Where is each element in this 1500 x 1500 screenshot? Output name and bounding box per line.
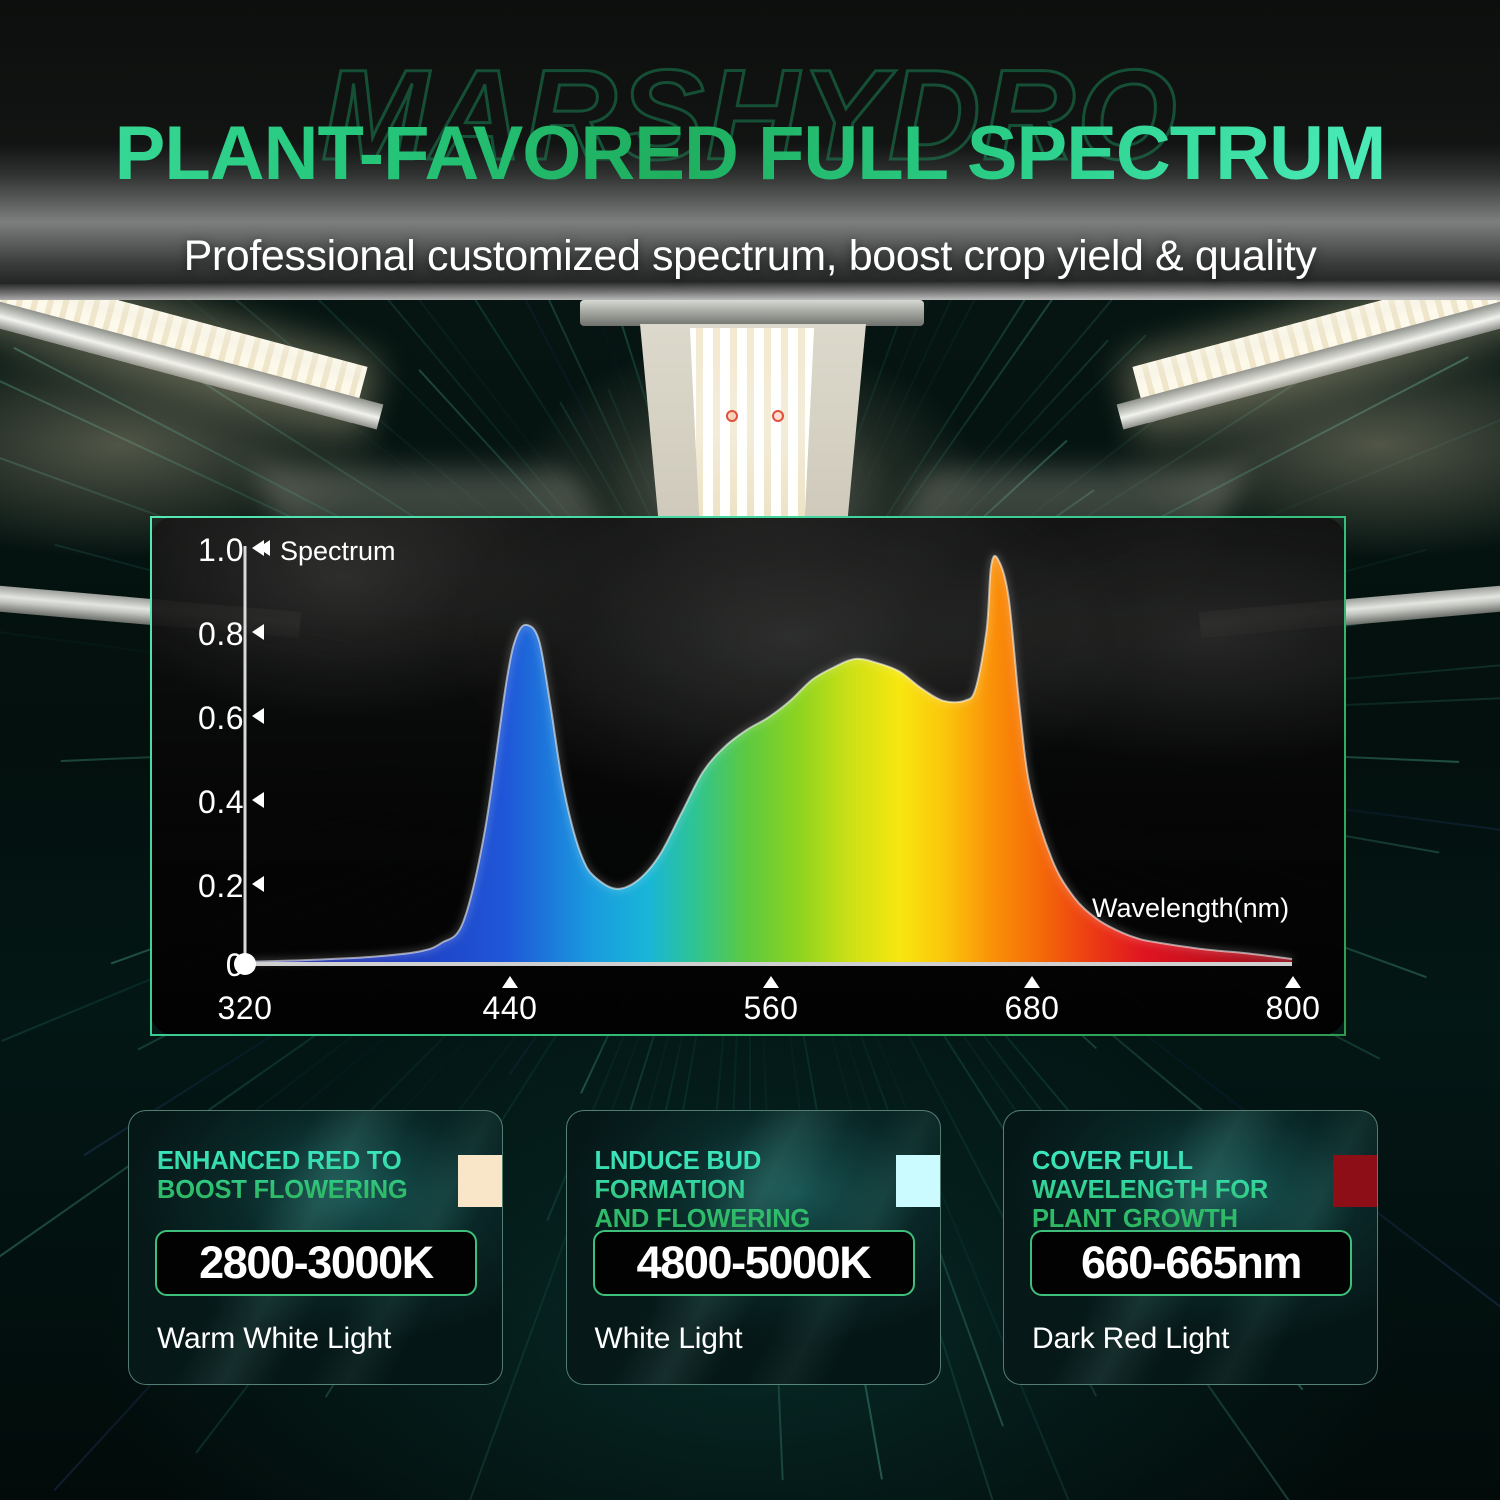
- card-subtitle: Dark Red Light: [1032, 1322, 1229, 1356]
- value-badge: 2800-3000K: [155, 1230, 477, 1296]
- x-tick-marker: [1024, 976, 1040, 988]
- card-title: ENHANCED RED TO BOOST FLOWERING: [157, 1147, 474, 1205]
- x-tick-marker: [1285, 976, 1301, 988]
- y-tick-label: 0.4: [174, 784, 244, 821]
- x-tick-label: 680: [972, 990, 1092, 1027]
- card-title: COVER FULL WAVELENGTH FOR PLANT GROWTH: [1032, 1147, 1349, 1233]
- spectrum-chart-panel: 1.0 0.8 0.6 0.4 0.2 0 Spectrum 320 440 5…: [150, 516, 1346, 1036]
- value-badge: 660-665nm: [1030, 1230, 1352, 1296]
- y-tick-label: 0: [174, 947, 244, 984]
- red-led-indicator-2: [772, 410, 784, 422]
- y-tick-label: 1.0: [174, 532, 244, 569]
- spectrum-label-marker: [258, 540, 270, 556]
- feature-card-white[interactable]: LNDUCE BUD FORMATION AND FLOWERING 4800-…: [566, 1110, 941, 1385]
- red-led-indicator-1: [726, 410, 738, 422]
- x-tick-label: 560: [711, 990, 831, 1027]
- x-tick-label: 440: [450, 990, 570, 1027]
- x-axis-title: Wavelength(nm): [1092, 893, 1289, 924]
- y-tick-marker: [252, 876, 264, 892]
- value-text: 660-665nm: [1081, 1237, 1301, 1289]
- x-tick-marker: [763, 976, 779, 988]
- x-tick-marker: [502, 976, 518, 988]
- page-title: PLANT-FAVORED FULL SPECTRUM: [0, 110, 1500, 197]
- y-tick-marker: [252, 708, 264, 724]
- card-subtitle: White Light: [595, 1322, 743, 1356]
- page-subtitle: Professional customized spectrum, boost …: [0, 232, 1500, 281]
- card-subtitle: Warm White Light: [157, 1322, 391, 1356]
- feature-card-dark-red[interactable]: COVER FULL WAVELENGTH FOR PLANT GROWTH 6…: [1003, 1110, 1378, 1385]
- spectrum-infographic-page: MARSHYDRO PLANT-FAVORED FULL SPECTRUM Pr…: [0, 0, 1500, 1500]
- y-tick-label: 0.2: [174, 868, 244, 905]
- y-tick-label: 0.8: [174, 616, 244, 653]
- y-tick-marker: [252, 792, 264, 808]
- value-text: 2800-3000K: [199, 1237, 433, 1289]
- x-tick-label: 320: [185, 990, 305, 1027]
- feature-card-warm-white[interactable]: ENHANCED RED TO BOOST FLOWERING 2800-300…: [128, 1110, 503, 1385]
- y-tick-marker: [252, 624, 264, 640]
- fixture-led-panel: [686, 328, 818, 516]
- fixture-hanger-bar: [580, 300, 924, 326]
- ceiling-rail: [0, 280, 1500, 300]
- card-title: LNDUCE BUD FORMATION AND FLOWERING: [595, 1147, 912, 1233]
- center-grow-light-fixture: [578, 300, 926, 515]
- feature-card-row: ENHANCED RED TO BOOST FLOWERING 2800-300…: [128, 1110, 1378, 1410]
- spectrum-chart-svg: [152, 518, 1344, 1034]
- value-text: 4800-5000K: [637, 1237, 871, 1289]
- value-badge: 4800-5000K: [593, 1230, 915, 1296]
- x-tick-label: 800: [1233, 990, 1346, 1027]
- y-tick-label: 0.6: [174, 700, 244, 737]
- y-axis-title: Spectrum: [280, 536, 396, 567]
